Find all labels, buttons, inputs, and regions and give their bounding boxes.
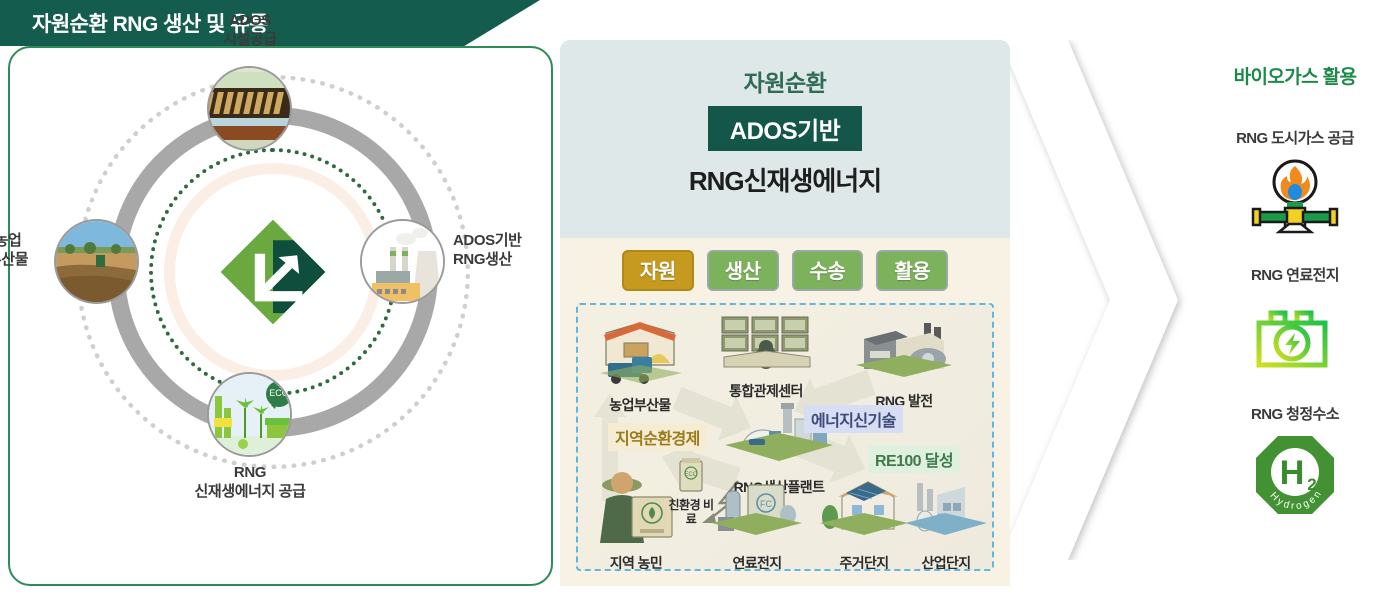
stage-tag-utilization[interactable]: 활용 [876, 250, 948, 291]
flow-caption-agri-byproduct: 농업부산물 [584, 395, 696, 415]
center-panel: 자원순환 ADOS기반 RNG신재생에너지 자원 생산 수송 활용 [560, 40, 1010, 586]
right-item-clean-hydrogen[interactable]: RNG 청정수소 H 2 Hydrogen [1251, 403, 1339, 518]
gas-valve-flame-icon [1245, 156, 1345, 236]
node-label-rng-production: ADOS기반 RNG생산 [453, 232, 573, 270]
infographic-root: 자원순환 RNG 생산 및 유통 [0, 0, 1400, 600]
stage-tag-resource[interactable]: 자원 [622, 250, 694, 291]
label-energy-tech: 에너지신기술 [804, 405, 903, 433]
left-panel: 자원순환 RNG 생산 및 유통 [0, 0, 560, 600]
flow-diagram-box: 농업부산물 [576, 303, 994, 571]
flow-chevron-arrow [1010, 40, 1210, 560]
control-room-icon [712, 313, 820, 375]
flow-caption-fuel-cell: 연료전지 [702, 553, 812, 571]
flow-caption-control-center: 통합관제센터 [706, 381, 826, 401]
node-renewable-supply[interactable]: ECO [207, 372, 292, 457]
svg-text:ECO: ECO [684, 472, 697, 478]
industrial-complex-icon [901, 471, 991, 547]
right-caption-fuel-cell: RNG 연료전지 [1251, 264, 1339, 285]
center-subtitle-bottom: RNG신재생에너지 [689, 161, 881, 198]
power-plant-illustration-icon [362, 221, 445, 304]
node-rng-production[interactable] [360, 219, 445, 304]
stage-tag-row: 자원 생산 수송 활용 [576, 250, 994, 291]
right-item-city-gas[interactable]: RNG 도시가스 공급 [1236, 127, 1354, 236]
flow-item-industrial[interactable]: 산업단지 [898, 471, 994, 571]
fertilizer-item: ECO [674, 455, 708, 500]
right-panel-title: 바이오가스 활용 [1234, 62, 1357, 89]
flow-item-fuel-cell[interactable]: FC 연료전지 [702, 471, 812, 571]
rng-power-plant-icon [852, 319, 956, 385]
flow-caption-industrial: 산업단지 [898, 553, 994, 571]
stage-tag-transport[interactable]: 수송 [792, 250, 864, 291]
node-label-agri-byproduct: 농업 부산물 [0, 232, 58, 270]
hydrogen-h2-icon: H 2 Hydrogen [1252, 432, 1338, 518]
stage-tag-production[interactable]: 생산 [707, 250, 779, 291]
node-label-ados-facility: ADOS 시설공급 [165, 12, 335, 50]
right-item-fuel-cell[interactable]: RNG 연료전지 [1245, 264, 1345, 375]
farm-field-photo-icon [56, 221, 139, 304]
fertilizer-sack-icon: ECO [674, 455, 708, 495]
center-subtitle-top: 자원순환 [744, 64, 827, 98]
label-re100: RE100 달성 [868, 445, 960, 473]
center-header: 자원순환 ADOS기반 RNG신재생에너지 [560, 40, 1010, 238]
right-panel: 바이오가스 활용 RNG 도시가스 공급 RNG 연료전지 [1190, 0, 1400, 600]
right-caption-city-gas: RNG 도시가스 공급 [1236, 127, 1354, 148]
node-label-renewable-supply: RNG 신재생에너지 공급 [150, 464, 350, 502]
svg-text:FC: FC [760, 499, 772, 509]
flow-item-agri-byproduct[interactable]: 농업부산물 [584, 317, 696, 415]
fuel-cell-icon: FC [708, 471, 806, 547]
resource-circulation-logo-icon [217, 216, 329, 328]
ados-facility-photo-icon [209, 68, 292, 151]
node-agri-byproduct[interactable] [54, 219, 139, 304]
svg-text:H: H [1280, 454, 1305, 492]
label-local-economy: 지역순환경제 [608, 423, 707, 451]
center-body: 자원 생산 수송 활용 [560, 238, 1010, 586]
barn-truck-icon [590, 317, 690, 389]
node-ados-facility[interactable] [207, 66, 292, 151]
flow-item-rng-power[interactable]: RNG 발전 [846, 319, 962, 411]
circular-cycle-diagram: ADOS 시설공급 [38, 52, 508, 492]
center-badge: ADOS기반 [708, 106, 863, 151]
eco-renewable-illustration-icon: ECO [209, 374, 292, 457]
fertilizer-label: 친환경 비료 [668, 499, 714, 527]
right-caption-clean-hydrogen: RNG 청정수소 [1251, 403, 1339, 424]
battery-bolt-icon [1245, 293, 1345, 375]
flow-caption-local-farmer: 지역 농민 [582, 553, 690, 571]
flow-item-control-center[interactable]: 통합관제센터 [706, 313, 826, 401]
